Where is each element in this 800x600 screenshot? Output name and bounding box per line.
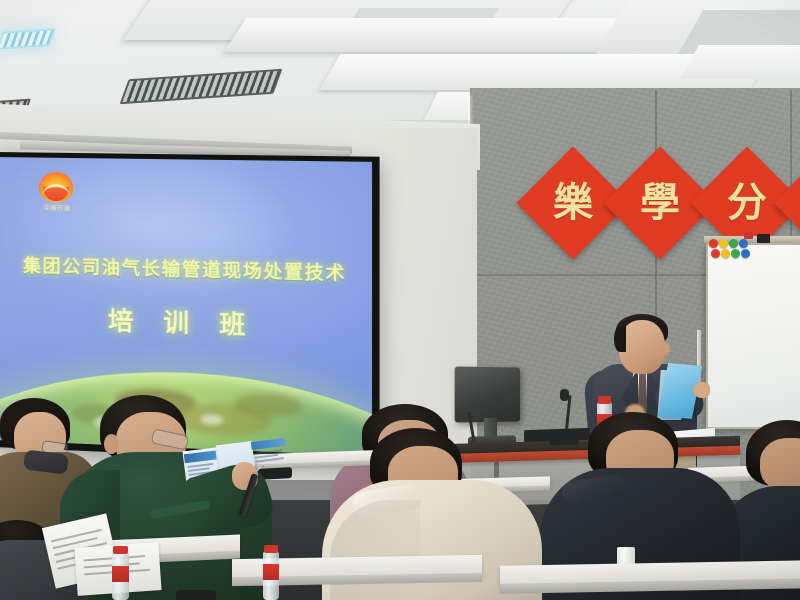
- presenter-hand: [693, 382, 710, 398]
- microphone-head: [560, 389, 569, 401]
- microphone-base: [549, 436, 579, 445]
- magnet-icon: [709, 239, 718, 248]
- attendee-ear: [104, 434, 119, 454]
- bottle-cap: [598, 396, 611, 404]
- bottle-label: [263, 564, 279, 580]
- whiteboard-clip: [744, 232, 753, 239]
- ceiling-slab: [681, 45, 800, 79]
- diamond-glyph: 樂: [533, 163, 613, 243]
- paper-text-line: [51, 529, 102, 542]
- presenter-hair: [614, 326, 626, 352]
- presenter-ear: [661, 342, 670, 355]
- classroom-photo-scene: 樂 學 分 享 — 和 1 对4: [0, 0, 800, 600]
- diamond-glyph: 學: [620, 163, 700, 243]
- magnet-icon: [721, 249, 730, 258]
- magnet-icon: [739, 239, 748, 248]
- whiteboard-clip: [757, 234, 770, 243]
- ceiling-light: [0, 28, 56, 50]
- magnet-icon: [719, 239, 728, 248]
- magnet-icon: [731, 249, 740, 258]
- cnpc-sun-logo-icon: 中国石油: [39, 172, 73, 213]
- magnet-icon: [711, 249, 720, 258]
- attendee-head: [760, 438, 800, 492]
- diamond-glyph: 享: [790, 163, 800, 243]
- magnet-icon: [741, 249, 750, 258]
- table-object: [176, 590, 216, 600]
- bottle-label: [112, 566, 129, 582]
- bottle-cap: [113, 546, 128, 554]
- magnet-icon: [729, 239, 738, 248]
- whiteboard: — 和 1 对4: [706, 243, 800, 429]
- bottle-cap: [264, 545, 278, 553]
- lcd-monitor: [455, 366, 520, 422]
- logo-caption: 中国石油: [37, 203, 77, 213]
- brochure-header-band: [184, 450, 217, 463]
- ceiling-vent: [120, 69, 283, 104]
